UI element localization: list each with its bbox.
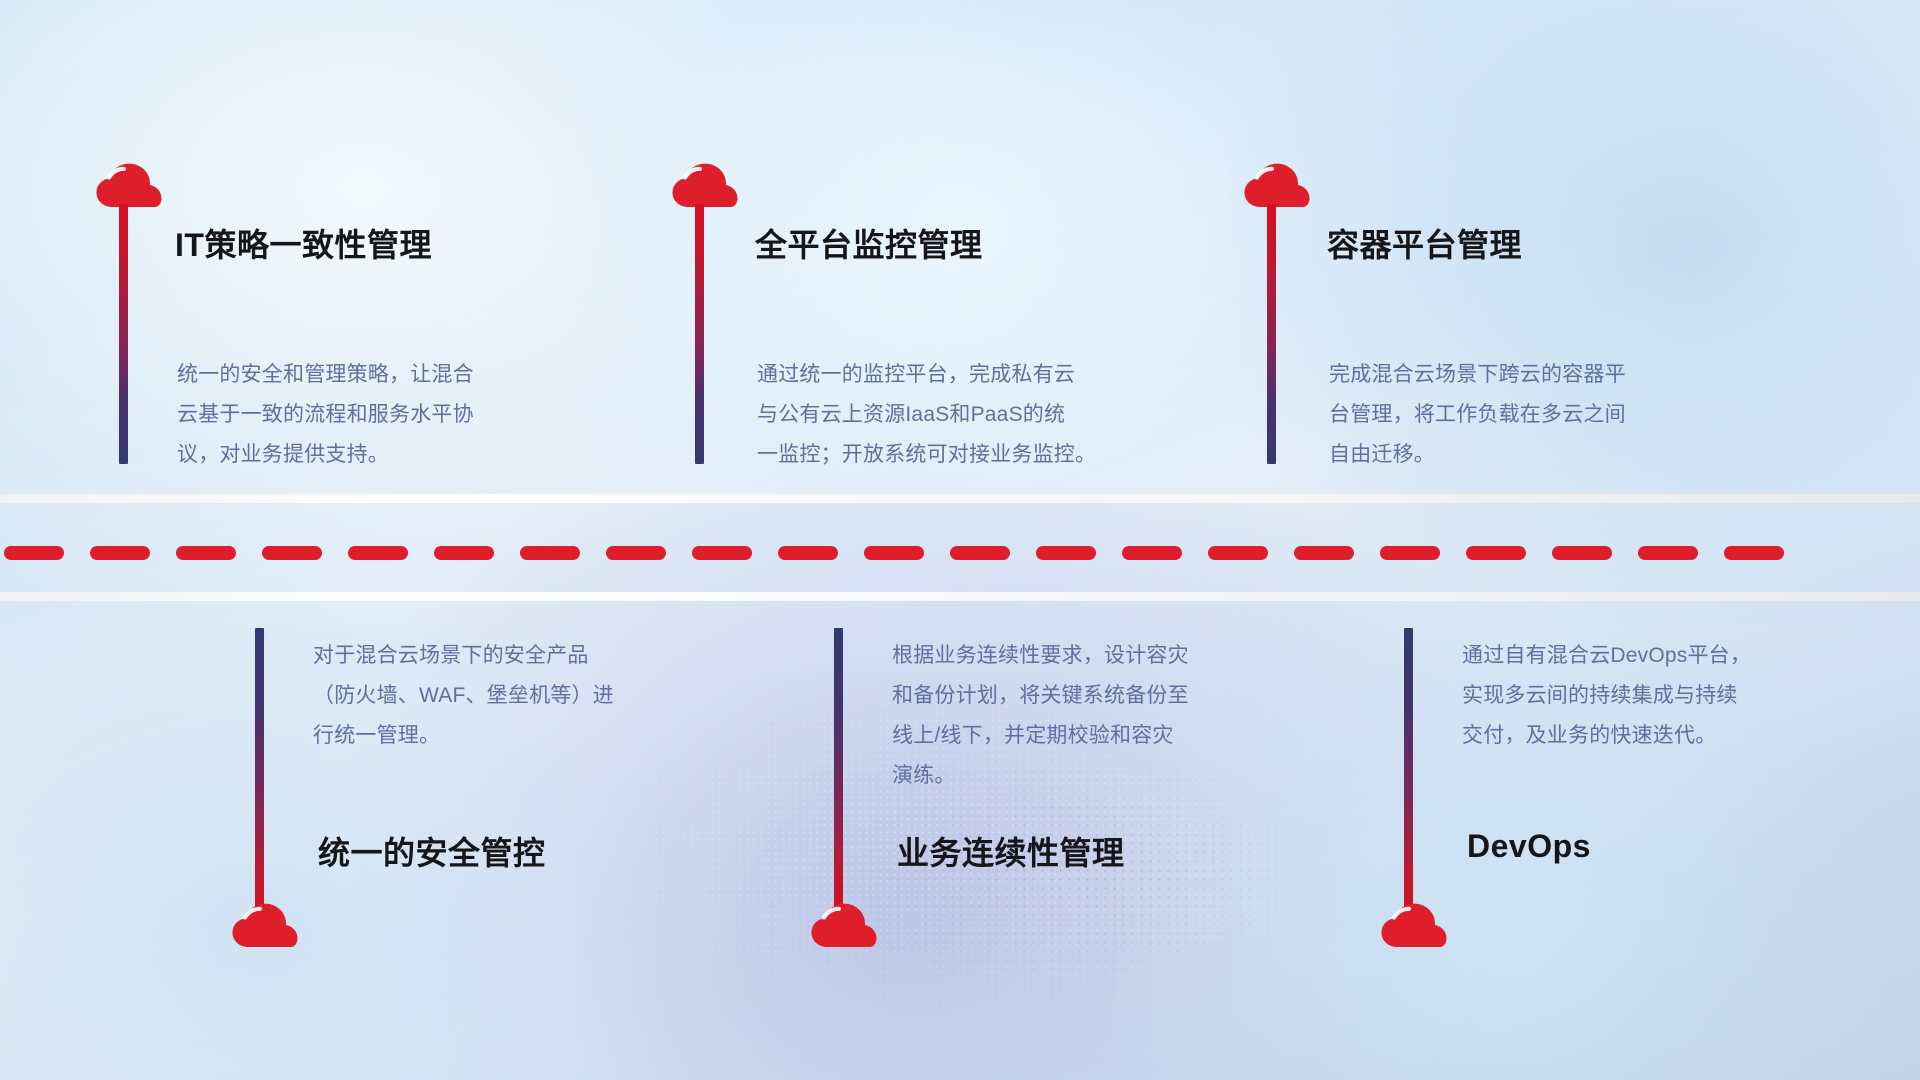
divider-dash bbox=[778, 546, 838, 560]
item-title: 容器平台管理 bbox=[1327, 220, 1522, 266]
divider-dash bbox=[520, 546, 580, 560]
cloud-icon bbox=[810, 900, 878, 948]
divider-dash bbox=[176, 546, 236, 560]
divider-dash bbox=[692, 546, 752, 560]
connector-line bbox=[834, 628, 843, 918]
divider-dash bbox=[1552, 546, 1612, 560]
divider-dash bbox=[4, 546, 64, 560]
item-description: 对于混合云场景下的安全产品 （防火墙、WAF、堡垒机等）进 行统一管理。 bbox=[313, 636, 743, 756]
divider-dash bbox=[864, 546, 924, 560]
item-description: 通过自有混合云DevOps平台， 实现多云间的持续集成与持续 交付，及业务的快速… bbox=[1462, 636, 1892, 756]
dashed-divider bbox=[0, 546, 1920, 560]
divider-dash bbox=[1638, 546, 1698, 560]
divider-dash bbox=[606, 546, 666, 560]
connector-line bbox=[1267, 204, 1276, 464]
item-description: 完成混合云场景下跨云的容器平 台管理，将工作负载在多云之间 自由迁移。 bbox=[1329, 355, 1759, 475]
item-title: DevOps bbox=[1467, 828, 1591, 865]
item-title: IT策略一致性管理 bbox=[175, 220, 432, 266]
item-title: 业务连续性管理 bbox=[897, 828, 1125, 874]
divider-dash bbox=[1208, 546, 1268, 560]
divider-dash bbox=[434, 546, 494, 560]
divider-dash bbox=[262, 546, 322, 560]
cloud-icon bbox=[231, 900, 299, 948]
divider-dash bbox=[90, 546, 150, 560]
item-description: 统一的安全和管理策略，让混合 云基于一致的流程和服务水平协 议，对业务提供支持。 bbox=[177, 355, 607, 475]
cloud-icon bbox=[1243, 160, 1311, 208]
cloud-icon bbox=[1380, 900, 1448, 948]
infographic-canvas: IT策略一致性管理 统一的安全和管理策略，让混合 云基于一致的流程和服务水平协 … bbox=[0, 0, 1920, 1080]
divider-dash bbox=[348, 546, 408, 560]
item-title: 全平台监控管理 bbox=[755, 220, 983, 266]
divider-dash bbox=[950, 546, 1010, 560]
divider-bar-bottom bbox=[0, 592, 1920, 601]
connector-line bbox=[119, 204, 128, 464]
divider-dash bbox=[1294, 546, 1354, 560]
item-description: 通过统一的监控平台，完成私有云 与公有云上资源IaaS和PaaS的统 一监控；开… bbox=[757, 355, 1207, 475]
divider-dash bbox=[1380, 546, 1440, 560]
divider-dash bbox=[1724, 546, 1784, 560]
cloud-icon bbox=[671, 160, 739, 208]
item-description: 根据业务连续性要求，设计容灾 和备份计划，将关键系统备份至 线上/线下，并定期校… bbox=[892, 636, 1342, 796]
divider-dash bbox=[1466, 546, 1526, 560]
connector-line bbox=[255, 628, 264, 918]
divider-dash bbox=[1122, 546, 1182, 560]
item-title: 统一的安全管控 bbox=[318, 828, 546, 874]
connector-line bbox=[1404, 628, 1413, 918]
connector-line bbox=[695, 204, 704, 464]
divider-dash bbox=[1036, 546, 1096, 560]
cloud-icon bbox=[95, 160, 163, 208]
divider-bar-top bbox=[0, 494, 1920, 503]
